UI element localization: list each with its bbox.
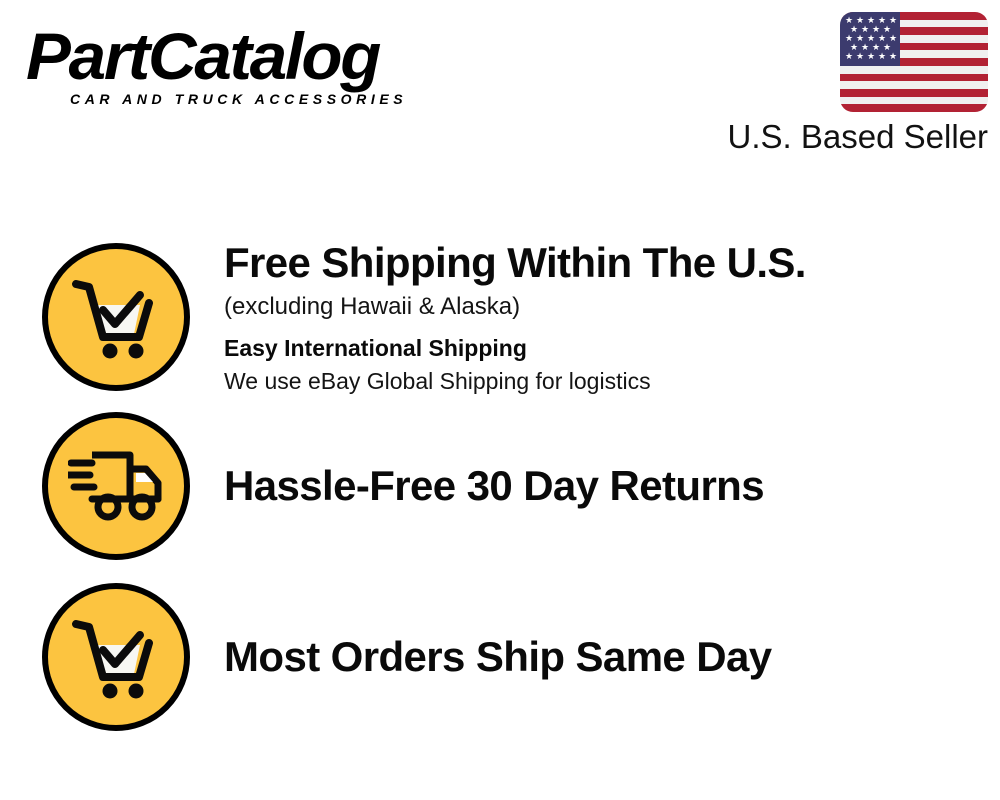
- flag-canton: ★ ★ ★ ★ ★ ★ ★ ★ ★ ★ ★ ★ ★ ★ ★ ★ ★ ★ ★ ★: [840, 12, 900, 66]
- us-based-seller-badge: ★ ★ ★ ★ ★ ★ ★ ★ ★ ★ ★ ★ ★ ★ ★ ★ ★ ★ ★ ★: [688, 12, 988, 156]
- benefit-subtitle: (excluding Hawaii & Alaska): [224, 290, 980, 323]
- brand-logo[interactable]: PartCatalog CAR AND TRUCK ACCESSORIES: [26, 22, 496, 107]
- benefit-highlight: Easy International Shipping: [224, 332, 980, 364]
- benefit-title: Hassle-Free 30 Day Returns: [224, 461, 980, 511]
- shopping-cart-check-icon: [42, 243, 190, 391]
- benefit-text-block: Most Orders Ship Same Day: [190, 632, 1000, 682]
- benefit-title: Free Shipping Within The U.S.: [224, 238, 980, 288]
- brand-tagline: CAR AND TRUCK ACCESSORIES: [70, 91, 496, 107]
- benefit-row: Hassle-Free 30 Day Returns: [0, 408, 1000, 563]
- benefit-note: We use eBay Global Shipping for logistic…: [224, 365, 980, 397]
- us-flag-icon: ★ ★ ★ ★ ★ ★ ★ ★ ★ ★ ★ ★ ★ ★ ★ ★ ★ ★ ★ ★: [840, 12, 988, 112]
- benefit-title: Most Orders Ship Same Day: [224, 632, 980, 682]
- benefit-text-block: Hassle-Free 30 Day Returns: [190, 461, 1000, 511]
- page-header: PartCatalog CAR AND TRUCK ACCESSORIES ★ …: [0, 0, 1000, 175]
- us-based-seller-label: U.S. Based Seller: [688, 118, 988, 156]
- brand-wordmark: PartCatalog: [26, 22, 505, 90]
- shopping-cart-check-icon: [42, 583, 190, 731]
- delivery-truck-icon: [42, 412, 190, 560]
- benefit-row: Most Orders Ship Same Day: [0, 579, 1000, 734]
- benefit-text-block: Free Shipping Within The U.S. (excluding…: [190, 238, 1000, 397]
- benefit-row: Free Shipping Within The U.S. (excluding…: [0, 232, 1000, 402]
